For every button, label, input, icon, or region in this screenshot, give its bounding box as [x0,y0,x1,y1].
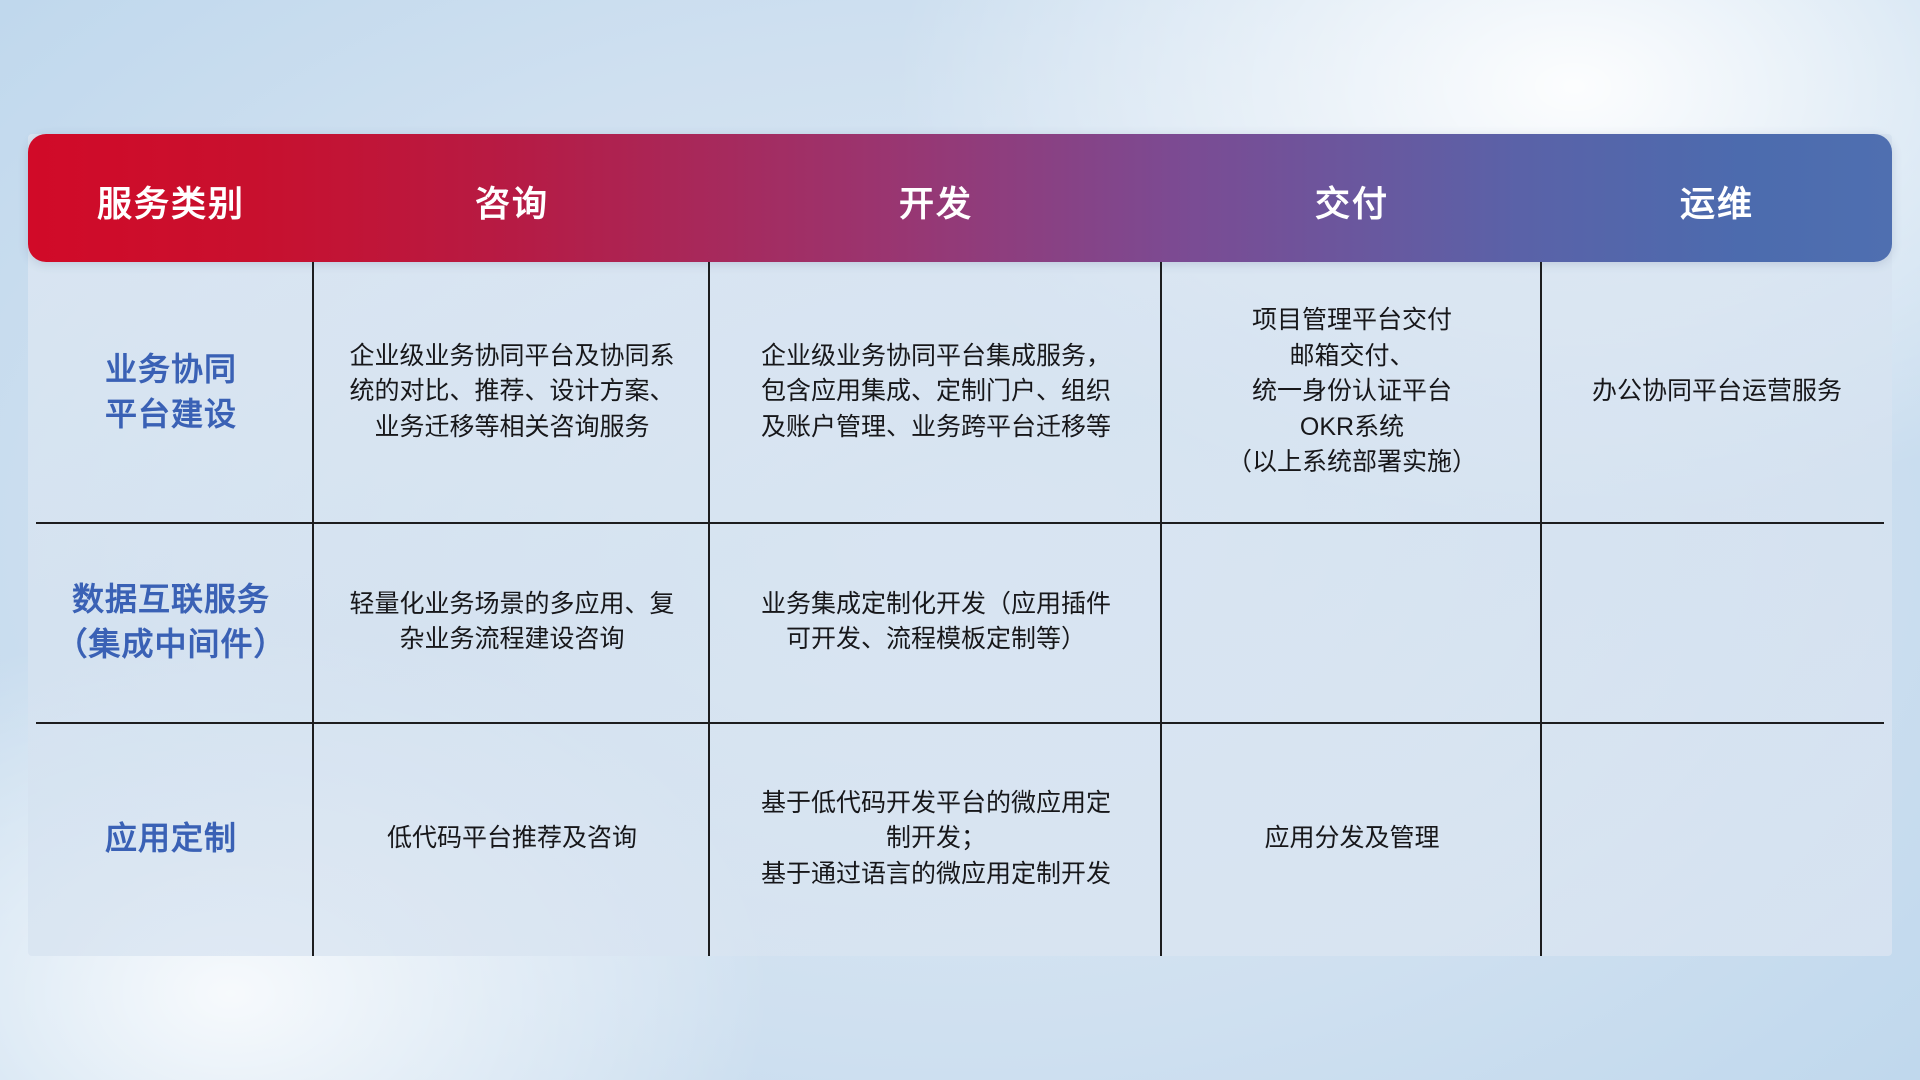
table-header-row: 服务类别 咨询 开发 交付 运维 [28,134,1892,262]
cell-consulting: 低代码平台推荐及咨询 [314,722,710,956]
column-header-delivery-label: 交付 [1315,176,1389,227]
row-label-cell: 业务协同 平台建设 [28,262,314,522]
column-header-consulting: 咨询 [314,134,710,262]
cell-delivery-text: 项目管理平台交付 邮箱交付、 统一身份认证平台 OKR系统 （以上系统部署实施） [1227,303,1477,481]
column-header-operations: 运维 [1542,134,1892,262]
cell-delivery: 项目管理平台交付 邮箱交付、 统一身份认证平台 OKR系统 （以上系统部署实施） [1162,262,1542,522]
cell-operations-text: 办公协同平台运营服务 [1592,374,1842,410]
cell-consulting-text: 企业级业务协同平台及协同系 统的对比、推荐、设计方案、 业务迁移等相关咨询服务 [349,339,674,446]
cell-development-text: 基于低代码开发平台的微应用定 制开发； 基于通过语言的微应用定制开发 [761,786,1111,893]
cell-development: 企业级业务协同平台集成服务， 包含应用集成、定制门户、组织 及账户管理、业务跨平… [710,262,1162,522]
row-label-business-collaboration: 业务协同 平台建设 [105,347,237,438]
cell-consulting: 轻量化业务场景的多应用、复 杂业务流程建设咨询 [314,522,710,722]
table-row: 应用定制 低代码平台推荐及咨询 基于低代码开发平台的微应用定 制开发； 基于通过… [28,722,1892,956]
column-header-development: 开发 [710,134,1162,262]
row-label-application-customization: 应用定制 [105,816,237,861]
cell-consulting-text: 低代码平台推荐及咨询 [387,821,637,857]
table-body: 业务协同 平台建设 企业级业务协同平台及协同系 统的对比、推荐、设计方案、 业务… [28,262,1892,956]
cell-delivery-text: 应用分发及管理 [1264,821,1439,857]
cell-development-text: 企业级业务协同平台集成服务， 包含应用集成、定制门户、组织 及账户管理、业务跨平… [761,339,1111,446]
column-header-category-label: 服务类别 [97,176,245,227]
cell-delivery [1162,522,1542,722]
cell-development-text: 业务集成定制化开发（应用插件 可开发、流程模板定制等） [761,587,1111,658]
cell-development: 业务集成定制化开发（应用插件 可开发、流程模板定制等） [710,522,1162,722]
column-header-operations-label: 运维 [1680,176,1754,227]
service-matrix-table: 服务类别 咨询 开发 交付 运维 业务协同 平台建设 [28,134,1892,956]
column-header-consulting-label: 咨询 [475,176,549,227]
cell-development: 基于低代码开发平台的微应用定 制开发； 基于通过语言的微应用定制开发 [710,722,1162,956]
cell-delivery: 应用分发及管理 [1162,722,1542,956]
cell-operations [1542,722,1892,956]
row-label-cell: 应用定制 [28,722,314,956]
column-header-development-label: 开发 [899,176,973,227]
column-header-delivery: 交付 [1162,134,1542,262]
slide-canvas: 服务类别 咨询 开发 交付 运维 业务协同 平台建设 [0,0,1920,1080]
table-row: 业务协同 平台建设 企业级业务协同平台及协同系 统的对比、推荐、设计方案、 业务… [28,262,1892,522]
column-header-category: 服务类别 [28,134,314,262]
cell-consulting-text: 轻量化业务场景的多应用、复 杂业务流程建设咨询 [349,587,674,658]
row-label-cell: 数据互联服务 （集成中间件） [28,522,314,722]
cell-operations [1542,522,1892,722]
table-row: 数据互联服务 （集成中间件） 轻量化业务场景的多应用、复 杂业务流程建设咨询 业… [28,522,1892,722]
row-label-data-interconnect: 数据互联服务 （集成中间件） [55,577,286,668]
cell-operations: 办公协同平台运营服务 [1542,262,1892,522]
cell-consulting: 企业级业务协同平台及协同系 统的对比、推荐、设计方案、 业务迁移等相关咨询服务 [314,262,710,522]
